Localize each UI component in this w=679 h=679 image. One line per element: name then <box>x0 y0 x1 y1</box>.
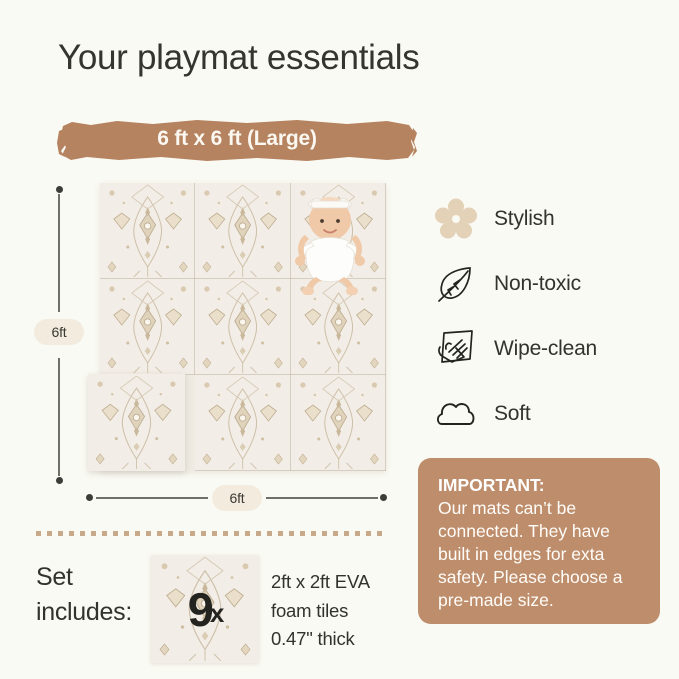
vertical-dimension-label: 6ft <box>34 319 84 345</box>
flower-icon <box>430 195 482 243</box>
tile-count-number: 9 <box>188 582 212 637</box>
dotted-divider <box>36 531 386 536</box>
feature-list: Stylish Non-toxic Wipe-cl <box>430 186 670 446</box>
dim-line-upper <box>58 194 60 312</box>
horizontal-dimension-label: 6ft <box>212 485 262 511</box>
tile-count: 9x <box>151 555 259 663</box>
dim-endpoint-bottom <box>56 477 63 484</box>
dim-endpoint-left <box>86 494 93 501</box>
vertical-dimension-line: 6ft <box>58 186 60 484</box>
tile-tab <box>158 374 171 376</box>
size-banner: 6 ft x 6 ft (Large) <box>57 117 417 163</box>
mat-tile <box>100 183 195 279</box>
tile-tab <box>106 374 119 376</box>
feature-item-non-toxic: Non-toxic <box>430 251 670 316</box>
mat-tile <box>100 279 195 375</box>
cloud-icon <box>430 390 482 438</box>
tile-tab <box>183 392 185 405</box>
important-heading: IMPORTANT: <box>438 474 644 497</box>
wipe-cloth-icon <box>430 325 482 373</box>
mat-tile <box>195 183 290 279</box>
feature-label: Non-toxic <box>494 272 581 296</box>
tile-tab <box>132 374 145 376</box>
set-desc-line-2: foam tiles <box>271 597 421 626</box>
mat-tile <box>195 279 290 375</box>
infographic-page: Your playmat essentials 6 ft x 6 ft (Lar… <box>0 0 679 679</box>
dim-line-right <box>266 497 378 499</box>
mat-tile <box>291 375 386 471</box>
set-includes-label: Set includes: <box>36 560 156 629</box>
size-banner-label: 6 ft x 6 ft (Large) <box>57 117 417 163</box>
feature-item-wipe-clean: Wipe-clean <box>430 316 670 381</box>
feature-label: Wipe-clean <box>494 337 597 361</box>
detached-mat-tile <box>88 374 185 471</box>
set-desc-line-1: 2ft x 2ft EVA <box>271 568 421 597</box>
horizontal-dimension-line: 6ft <box>90 497 384 499</box>
set-desc-line-3: 0.47" thick <box>271 625 421 654</box>
dim-line-lower <box>58 358 60 476</box>
mat-tile <box>195 375 290 471</box>
tile-count-suffix: x <box>210 598 222 629</box>
tile-tab <box>183 444 185 457</box>
playmat-diagram <box>88 183 386 483</box>
dim-line-left <box>96 497 208 499</box>
tile-swatch: 9x <box>151 555 259 663</box>
page-title: Your playmat essentials <box>58 38 419 78</box>
feature-label: Soft <box>494 402 531 426</box>
set-includes-description: 2ft x 2ft EVA foam tiles 0.47" thick <box>271 568 421 654</box>
feature-label: Stylish <box>494 207 554 231</box>
baby-photo <box>284 187 376 295</box>
tile-tab <box>183 418 185 431</box>
important-body: Our mats can’t be connected. They have b… <box>438 497 644 612</box>
dim-endpoint-top <box>56 186 63 193</box>
important-notice-box: IMPORTANT: Our mats can’t be connected. … <box>418 458 660 624</box>
feature-item-soft: Soft <box>430 381 670 446</box>
dim-endpoint-right <box>380 494 387 501</box>
feature-item-stylish: Stylish <box>430 186 670 251</box>
leaf-icon <box>430 260 482 308</box>
